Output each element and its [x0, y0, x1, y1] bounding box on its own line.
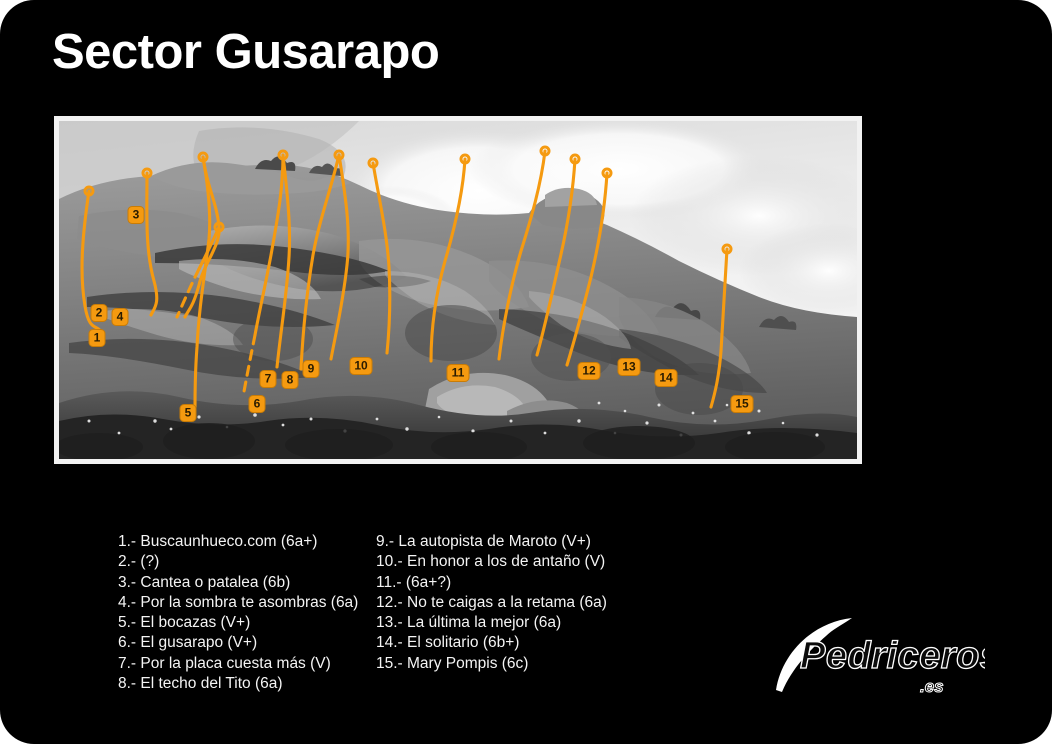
pedriceros-logo: Pedriceros .es — [770, 612, 985, 700]
route-number-chip-9[interactable]: 9 — [303, 361, 319, 378]
route-entry: 14.- El solitario (6b+) — [376, 633, 676, 653]
route-line-6-dashed — [243, 335, 255, 397]
logo-tld: .es — [920, 677, 944, 696]
route-number-chips: 123456789101112131415 — [89, 207, 753, 422]
chip-label: 3 — [133, 208, 140, 222]
route-line-11 — [431, 159, 465, 361]
route-line-7 — [277, 155, 290, 367]
route-line-6-upper — [255, 155, 283, 335]
route-line-12 — [499, 151, 545, 359]
route-entry: 13.- La última la mejor (6a) — [376, 613, 676, 633]
topo-photo: 123456789101112131415 — [59, 121, 857, 459]
route-entry: 5.- El bocazas (V+) — [118, 613, 378, 633]
route-list-column-right: 9.- La autopista de Maroto (V+) 10.- En … — [376, 532, 676, 674]
chip-label: 9 — [308, 362, 315, 376]
route-number-chip-15[interactable]: 15 — [731, 396, 753, 413]
route-number-chip-11[interactable]: 11 — [447, 365, 469, 382]
chip-label: 2 — [96, 306, 103, 320]
route-number-chip-4[interactable]: 4 — [112, 309, 128, 326]
route-number-chip-7[interactable]: 7 — [260, 371, 276, 388]
route-line-2 — [147, 173, 157, 315]
route-entry: 1.- Buscaunhueco.com (6a+) — [118, 532, 378, 552]
route-number-chip-14[interactable]: 14 — [655, 370, 677, 387]
route-line-9 — [331, 155, 348, 359]
chip-label: 7 — [265, 372, 272, 386]
route-entry: 10.- En honor a los de antaño (V) — [376, 552, 676, 572]
route-number-chip-3[interactable]: 3 — [128, 207, 144, 224]
route-line-14 — [567, 173, 607, 365]
route-number-chip-10[interactable]: 10 — [350, 358, 372, 375]
route-entry: 9.- La autopista de Maroto (V+) — [376, 532, 676, 552]
route-entry: 11.- (6a+?) — [376, 573, 676, 593]
chip-label: 13 — [622, 360, 636, 374]
route-line-5 — [195, 157, 210, 407]
chip-label: 5 — [185, 406, 192, 420]
page-title: Sector Gusarapo — [52, 27, 439, 78]
route-number-chip-5[interactable]: 5 — [180, 405, 196, 422]
chip-label: 10 — [354, 359, 368, 373]
chip-label: 8 — [287, 373, 294, 387]
chip-label: 4 — [117, 310, 124, 324]
route-number-chip-8[interactable]: 8 — [282, 372, 298, 389]
route-entry: 3.- Cantea o patalea (6b) — [118, 573, 378, 593]
route-line-8 — [301, 155, 339, 369]
route-line-10 — [373, 163, 390, 353]
route-number-chip-13[interactable]: 13 — [618, 359, 640, 376]
chip-label: 11 — [452, 366, 465, 380]
route-entry: 8.- El techo del Tito (6a) — [118, 674, 378, 694]
route-line-15 — [711, 249, 727, 407]
route-line-13 — [537, 159, 575, 355]
route-number-chip-1[interactable]: 1 — [89, 330, 105, 347]
chip-label: 14 — [659, 371, 673, 385]
route-number-chip-2[interactable]: 2 — [91, 305, 107, 322]
chip-label: 6 — [254, 397, 261, 411]
chip-label: 15 — [735, 397, 749, 411]
route-entry: 4.- Por la sombra te asombras (6a) — [118, 593, 378, 613]
route-entry: 7.- Por la placa cuesta más (V) — [118, 654, 378, 674]
route-number-chip-12[interactable]: 12 — [578, 363, 600, 380]
poster-root: Sector Gusarapo — [0, 0, 1052, 744]
route-list-column-left: 1.- Buscaunhueco.com (6a+) 2.- (?) 3.- C… — [118, 532, 378, 694]
route-entry: 12.- No te caigas a la retama (6a) — [376, 593, 676, 613]
chip-label: 12 — [582, 364, 596, 378]
chip-label: 1 — [94, 331, 101, 345]
route-entry: 6.- El gusarapo (V+) — [118, 633, 378, 653]
route-overlay: 123456789101112131415 — [59, 121, 857, 459]
route-number-chip-6[interactable]: 6 — [249, 396, 265, 413]
topo-photo-frame: 123456789101112131415 — [54, 116, 862, 464]
route-entry: 2.- (?) — [118, 552, 378, 572]
route-entry: 15.- Mary Pompis (6c) — [376, 654, 676, 674]
logo-artwork: Pedriceros .es — [770, 612, 985, 700]
logo-wordmark: Pedriceros — [800, 635, 985, 677]
